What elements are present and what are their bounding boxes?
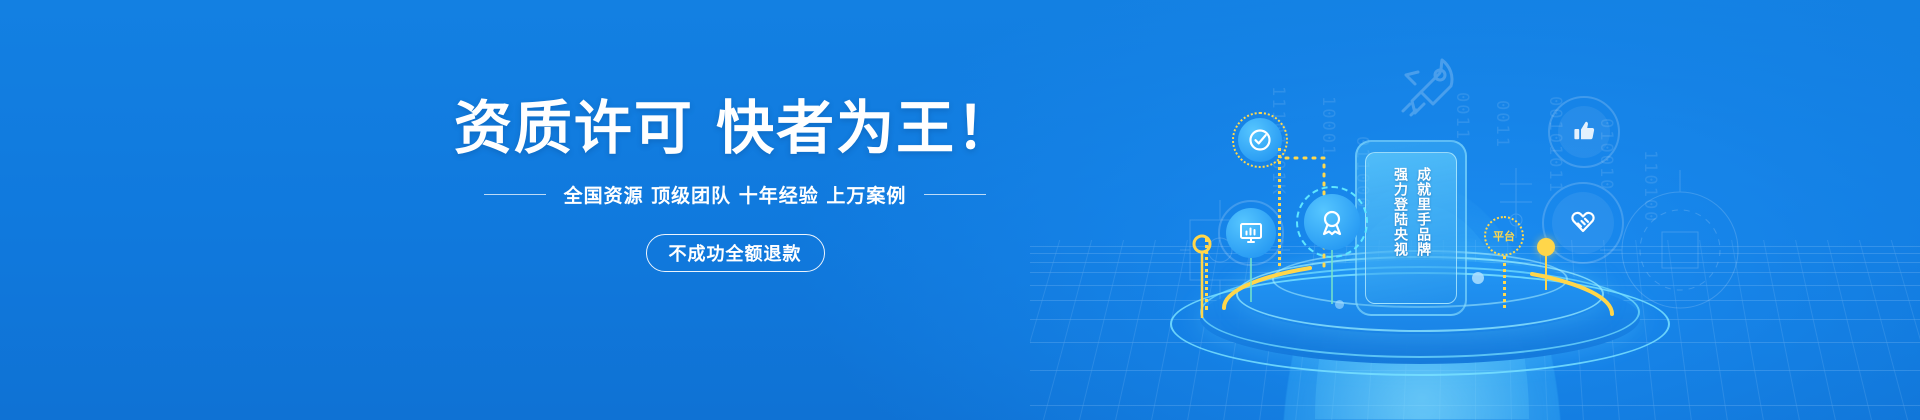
refund-guarantee-button[interactable]: 不成功全额退款 bbox=[646, 234, 825, 272]
handshake-heart-icon[interactable] bbox=[1552, 192, 1614, 254]
grid-line-vertical bbox=[1891, 240, 1920, 420]
thumbs-up-icon[interactable] bbox=[1558, 106, 1610, 158]
subtitle-row: 全国资源 顶级团队 十年经验 上万案例 bbox=[0, 181, 1470, 208]
page-title: 资质许可 快者为王！ bbox=[0, 96, 1470, 161]
grid-line-vertical bbox=[1859, 240, 1908, 420]
subtitle: 全国资源 顶级团队 十年经验 上万案例 bbox=[564, 181, 907, 208]
rule-left bbox=[484, 194, 546, 195]
promo-banner: 11101001K 10001 011000 0011 0011 0010101… bbox=[0, 0, 1920, 420]
copy-block: 资质许可 快者为王！ 全国资源 顶级团队 十年经验 上万案例 不成功全额退款 bbox=[0, 96, 1470, 272]
rule-right bbox=[924, 194, 986, 195]
platform-chip[interactable]: 平台 bbox=[1484, 216, 1524, 256]
grid-line-vertical bbox=[1763, 240, 1800, 420]
grid-line-vertical bbox=[1795, 240, 1836, 420]
cta-row: 不成功全额退款 bbox=[0, 234, 1470, 272]
binary-text: 0011 bbox=[1492, 100, 1512, 149]
